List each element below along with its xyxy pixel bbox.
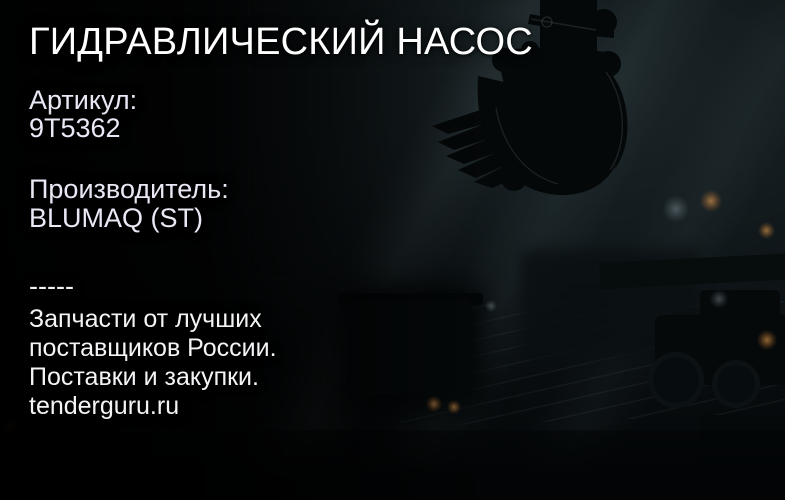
manufacturer-label: Производитель: — [29, 174, 229, 205]
sku-label: Артикул: — [29, 85, 137, 116]
product-title: ГИДРАВЛИЧЕСКИЙ НАСОС — [29, 20, 533, 64]
promo-line-3: Поставки и закупки. — [29, 363, 259, 392]
sku-value: 9T5362 — [29, 113, 121, 144]
promo-line-1: Запчасти от лучших — [29, 305, 262, 334]
manufacturer-value: BLUMAQ (ST) — [29, 203, 203, 234]
text-overlay: ГИДРАВЛИЧЕСКИЙ НАСОС Артикул: 9T5362 Про… — [0, 0, 785, 500]
website-url: tenderguru.ru — [29, 392, 179, 421]
divider: ----- — [29, 271, 74, 302]
product-banner: ГИДРАВЛИЧЕСКИЙ НАСОС Артикул: 9T5362 Про… — [0, 0, 785, 500]
promo-line-2: поставщиков России. — [29, 334, 277, 363]
